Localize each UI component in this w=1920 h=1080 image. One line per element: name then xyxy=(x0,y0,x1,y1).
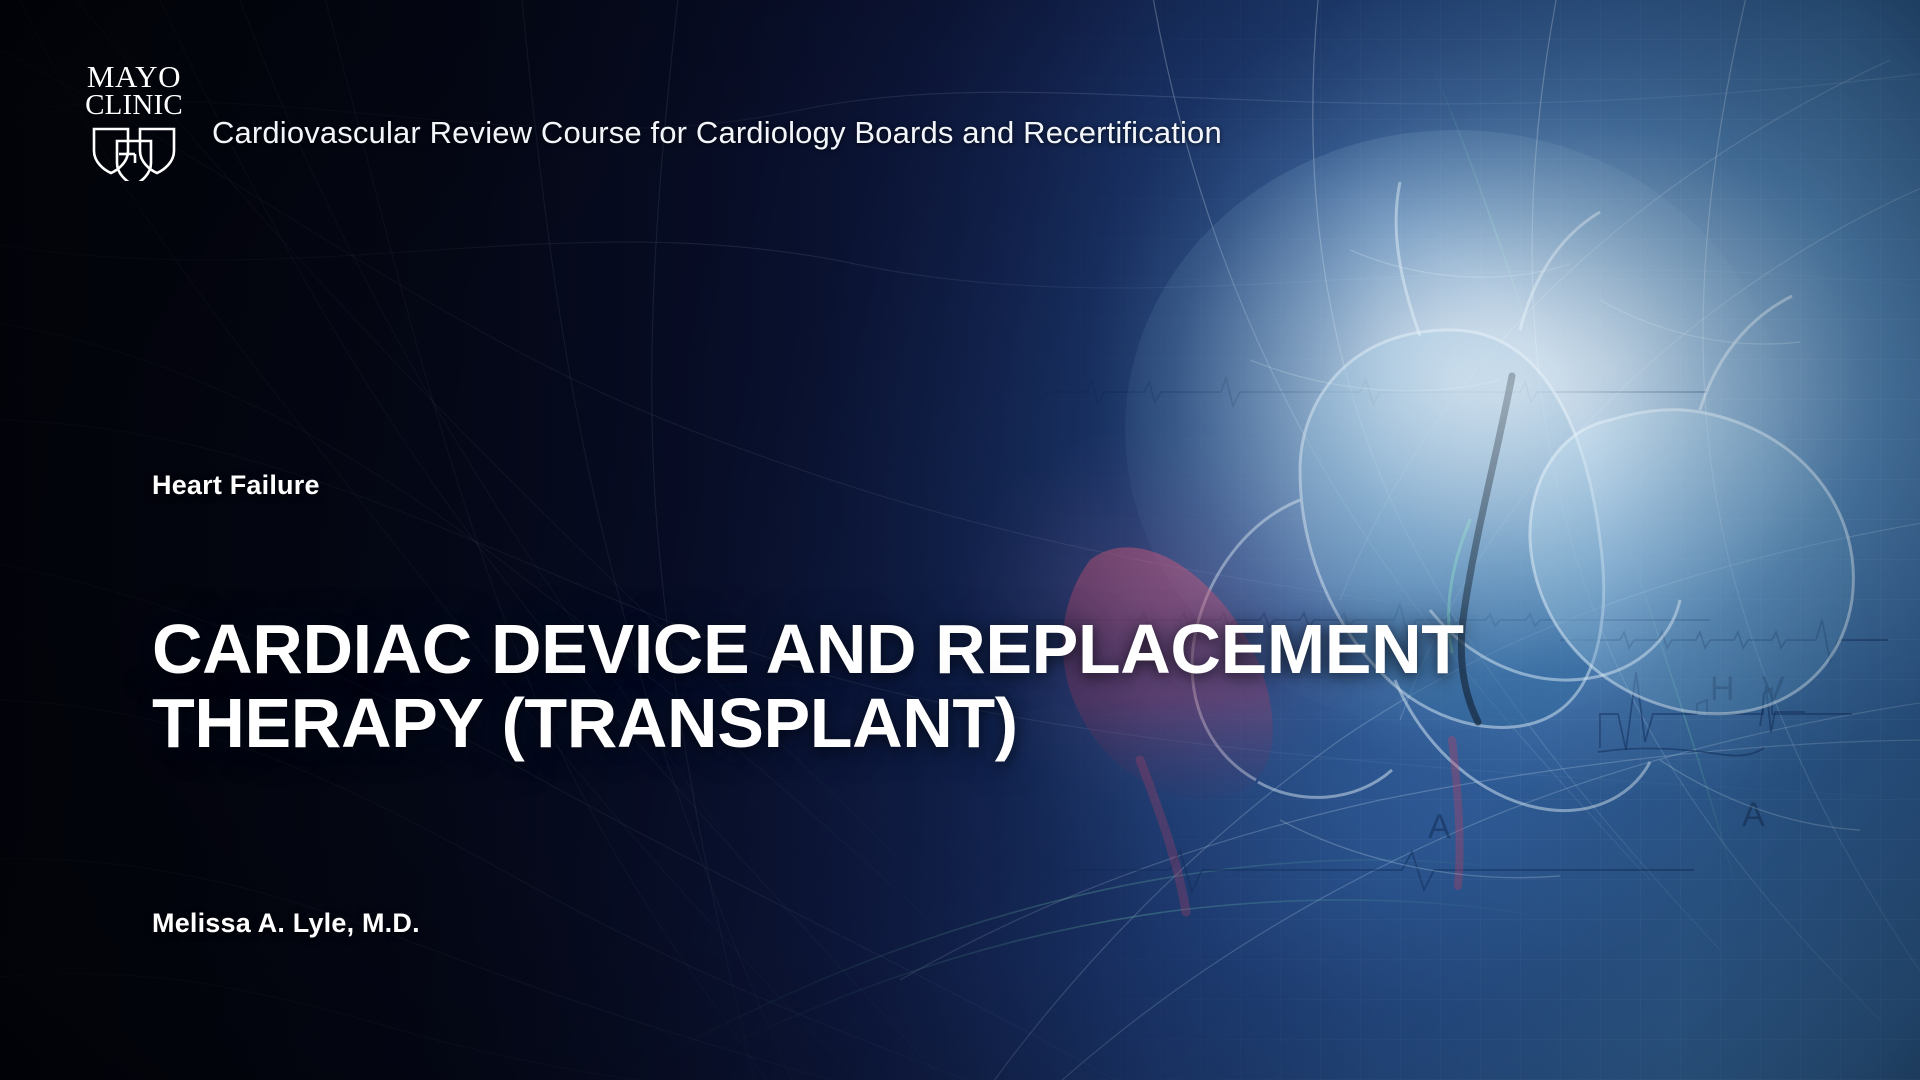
course-title: Cardiovascular Review Course for Cardiol… xyxy=(212,91,1222,151)
mayo-clinic-logo: MAYO CLINIC xyxy=(74,62,194,181)
slide-header: MAYO CLINIC Cardiovascular Review Course… xyxy=(74,62,1222,181)
slide-title: CARDIAC DEVICE AND REPLACEMENT THERAPY (… xyxy=(152,612,1672,760)
presenter-name: Melissa A. Lyle, M.D. xyxy=(152,908,420,939)
mayo-clinic-triple-shield-icon xyxy=(88,125,180,181)
logo-word-mayo: MAYO xyxy=(87,62,181,92)
logo-word-clinic: CLINIC xyxy=(85,92,183,120)
topic-kicker: Heart Failure xyxy=(152,470,320,501)
presentation-slide: H V A A xyxy=(0,0,1920,1080)
